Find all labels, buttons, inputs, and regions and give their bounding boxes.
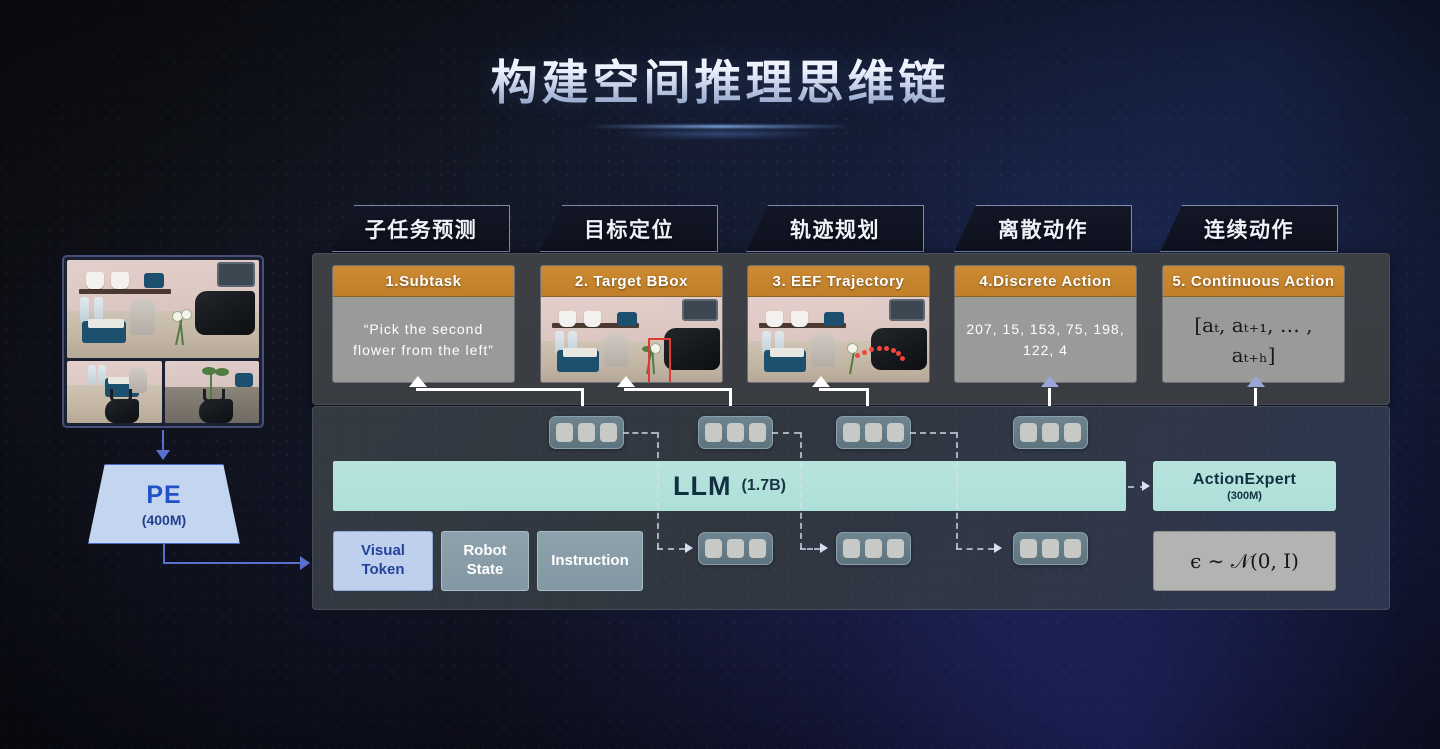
card-body-text: 207, 15, 153, 75, 198, 122, 4 <box>955 297 1136 382</box>
scene-wrist-left <box>67 361 162 423</box>
card-continuous-action[interactable]: 5. Continuous Action [aₜ, aₜ₊₁, … , aₜ₊ₕ… <box>1162 265 1345 383</box>
token-square <box>727 423 744 442</box>
tab-label: 目标定位 <box>584 214 674 244</box>
camera-view-row <box>67 361 259 423</box>
input-token-group-1 <box>698 532 773 565</box>
input-label-line2: State <box>467 561 504 580</box>
card-header: 5. Continuous Action <box>1163 266 1344 297</box>
scene-monitor <box>889 299 925 321</box>
target-bounding-box <box>648 338 671 382</box>
scene-wrist-right <box>165 361 260 423</box>
llm-size-label: (1.7B) <box>742 477 786 495</box>
token-square <box>1042 423 1059 442</box>
pe-to-visual-token-arrow <box>300 556 310 570</box>
input-token-group-3 <box>1013 532 1088 565</box>
scene-shelf <box>79 289 171 294</box>
scene-room-trajectory <box>748 297 929 382</box>
scene-monitor <box>217 262 255 287</box>
scene-small-blue-box <box>617 312 637 326</box>
dashed-route-2-arrow <box>820 543 828 553</box>
connector-line-traj <box>819 388 869 391</box>
action-expert-size-label: (300M) <box>1227 490 1262 502</box>
scene-cup <box>559 311 576 327</box>
scene-flower <box>848 344 857 353</box>
scene-cup <box>584 311 601 327</box>
token-square <box>556 423 573 442</box>
token-square <box>843 539 860 558</box>
card-header: 1.Subtask <box>333 266 514 297</box>
pe-output-riser <box>163 544 165 563</box>
dashed-route-3-top <box>910 432 956 434</box>
output-token-group-2 <box>698 416 773 449</box>
model-architecture-panel: LLM (1.7B) Visual Token Robot State Inst… <box>312 406 1390 610</box>
input-label-line2: Token <box>361 561 404 580</box>
llm-block[interactable]: LLM (1.7B) <box>333 461 1126 511</box>
scene-kettle <box>129 367 147 393</box>
scene-monitor <box>682 299 718 321</box>
token-square <box>1020 423 1037 442</box>
tab-trajectory-planning[interactable]: 轨迹规划 <box>746 205 924 252</box>
arrow-to-eef-trajectory-card <box>812 376 830 387</box>
card-body-image <box>541 297 722 382</box>
scene-small-blue-box <box>824 312 844 326</box>
token-square <box>600 423 617 442</box>
token-square <box>578 423 595 442</box>
scene-cup <box>791 311 808 327</box>
card-header: 2. Target BBox <box>541 266 722 297</box>
input-token-group-2 <box>836 532 911 565</box>
tab-continuous-action[interactable]: 连续动作 <box>1160 205 1338 252</box>
token-square <box>705 423 722 442</box>
scene-black-bag <box>195 291 255 335</box>
scene-bag-strap <box>110 389 132 403</box>
llm-label: LLM <box>673 471 731 502</box>
camera-view-left <box>67 361 162 423</box>
token-square <box>1020 539 1037 558</box>
card-header: 4.Discrete Action <box>955 266 1136 297</box>
scene-flower <box>173 312 182 321</box>
output-token-group-1 <box>549 416 624 449</box>
camera-view-right <box>165 361 260 423</box>
token-square <box>1042 539 1059 558</box>
tab-label: 轨迹规划 <box>790 214 880 244</box>
tab-discrete-action[interactable]: 离散动作 <box>954 205 1132 252</box>
scene-room-bbox <box>541 297 722 382</box>
connector-line-bbox <box>624 388 732 391</box>
token-square <box>843 423 860 442</box>
pe-size-label: (400M) <box>142 512 186 528</box>
token-square <box>865 539 882 558</box>
trajectory-point <box>862 350 867 355</box>
scene-cup <box>111 272 129 289</box>
reasoning-chain-cards-panel: 1.Subtask “Pick the second flower from t… <box>312 253 1390 405</box>
card-header: 3. EEF Trajectory <box>748 266 929 297</box>
output-token-group-4 <box>1013 416 1088 449</box>
noise-distribution-block: ϵ ∼ 𝒩(0, I) <box>1153 531 1336 591</box>
scene-cup <box>766 311 783 327</box>
card-body-text: “Pick the second flower from the left” <box>333 297 514 382</box>
camera-view-main <box>67 260 259 358</box>
scene-kettle <box>130 299 155 335</box>
scene-black-bag <box>664 328 720 370</box>
dashed-route-3-drop <box>956 432 958 549</box>
scene-kettle <box>811 333 835 367</box>
camera-to-pe-line <box>162 430 164 452</box>
dashed-route-2-top <box>772 432 800 434</box>
dashed-route-3-bottom <box>956 548 994 550</box>
trajectory-point <box>877 346 882 351</box>
action-expert-block[interactable]: ActionExpert (300M) <box>1153 461 1336 511</box>
dashed-route-1-arrow <box>685 543 693 553</box>
card-body-image <box>748 297 929 382</box>
token-square <box>1064 423 1081 442</box>
tab-label: 连续动作 <box>1204 214 1294 244</box>
tab-subtask-prediction[interactable]: 子任务预测 <box>332 205 510 252</box>
arrow-to-discrete-action-card <box>1041 376 1059 387</box>
dashed-route-2-drop <box>800 432 802 549</box>
tab-target-localization[interactable]: 目标定位 <box>540 205 718 252</box>
trajectory-point <box>855 353 860 358</box>
card-eef-trajectory[interactable]: 3. EEF Trajectory <box>747 265 930 383</box>
dashed-route-2-bottom <box>800 548 820 550</box>
camera-observation-panel[interactable] <box>62 255 264 428</box>
scene-basin-lid <box>770 348 804 357</box>
token-square <box>1064 539 1081 558</box>
input-instruction[interactable]: Instruction <box>537 531 643 591</box>
arrow-to-continuous-action-card <box>1247 376 1265 387</box>
trajectory-point <box>891 348 896 353</box>
token-square <box>727 539 744 558</box>
trajectory-point <box>900 356 905 361</box>
dashed-route-1-top <box>623 432 657 434</box>
tab-label: 子任务预测 <box>365 214 478 244</box>
input-label-line1: Instruction <box>551 552 629 571</box>
dashed-route-1-bottom <box>657 548 685 550</box>
dashed-action-expert-arrow <box>1142 481 1150 491</box>
arrow-to-subtask-card <box>409 376 427 387</box>
action-expert-label: ActionExpert <box>1193 471 1296 489</box>
card-discrete-action[interactable]: 4.Discrete Action 207, 15, 153, 75, 198,… <box>954 265 1137 383</box>
pe-label: PE <box>146 481 181 510</box>
token-square <box>887 423 904 442</box>
scene-basin-lid <box>88 319 124 328</box>
arrow-to-target-bbox-card <box>617 376 635 387</box>
output-token-group-3 <box>836 416 911 449</box>
perception-encoder-block[interactable]: PE (400M) <box>88 464 240 544</box>
dashed-route-1-drop <box>657 432 659 549</box>
tab-label: 离散动作 <box>998 214 1088 244</box>
input-label-line1: Visual <box>361 542 405 561</box>
scene-small-blue-box <box>235 373 253 387</box>
title-underline-glow <box>586 125 854 128</box>
token-square <box>749 423 766 442</box>
scene-bottle <box>88 365 96 385</box>
input-robot-state[interactable]: Robot State <box>441 531 529 591</box>
scene-basin-lid <box>563 348 597 357</box>
card-subtask[interactable]: 1.Subtask “Pick the second flower from t… <box>332 265 515 383</box>
token-square <box>865 423 882 442</box>
connector-line-subtask <box>416 388 584 391</box>
input-visual-token[interactable]: Visual Token <box>333 531 433 591</box>
scene-small-blue-box <box>144 273 164 288</box>
card-target-bbox[interactable]: 2. Target BBox <box>540 265 723 383</box>
dashed-route-3-arrow <box>994 543 1002 553</box>
input-label-line1: Robot <box>463 542 506 561</box>
title-underline-halo <box>615 130 825 138</box>
scene-room-overview <box>67 260 259 358</box>
camera-to-pe-arrow <box>156 450 170 460</box>
token-square <box>705 539 722 558</box>
card-body-math: [aₜ, aₜ₊₁, … , aₜ₊ₕ] <box>1163 297 1344 382</box>
token-square <box>749 539 766 558</box>
token-square <box>887 539 904 558</box>
pe-output-horizontal <box>163 562 303 564</box>
page-title-container: 构建空间推理思维链 <box>0 44 1440 138</box>
scene-kettle <box>604 333 628 367</box>
scene-cup <box>86 272 104 289</box>
page-title: 构建空间推理思维链 <box>0 44 1440 113</box>
scene-bag-strap <box>203 389 225 403</box>
